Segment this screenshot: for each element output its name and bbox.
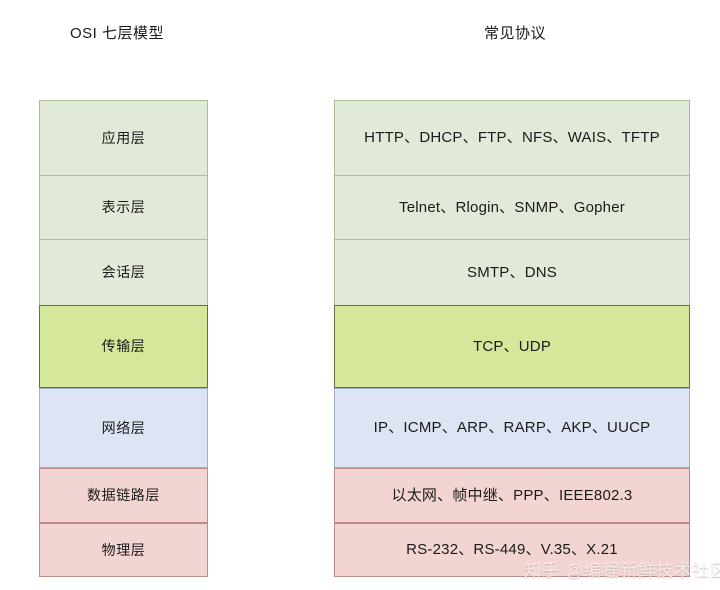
osi-layer-network: 网络层	[39, 388, 208, 468]
protocol-stack: HTTP、DHCP、FTP、NFS、WAIS、TFTP Telnet、Rlogi…	[334, 100, 690, 577]
protocol-row-network: IP、ICMP、ARP、RARP、AKP、UUCP	[334, 388, 690, 468]
osi-layer-transport: 传输层	[39, 305, 208, 388]
osi-column-header: OSI 七层模型	[70, 22, 164, 43]
protocol-row-label: 以太网、帧中继、PPP、IEEE802.3	[392, 487, 633, 505]
protocol-row-label: SMTP、DNS	[467, 264, 557, 282]
protocol-row-data-link: 以太网、帧中继、PPP、IEEE802.3	[334, 468, 690, 523]
protocol-row-label: TCP、UDP	[473, 338, 551, 356]
osi-layer-physical: 物理层	[39, 523, 208, 577]
osi-layer-label: 会话层	[102, 264, 146, 281]
protocol-row-physical: RS-232、RS-449、V.35、X.21	[334, 523, 690, 577]
protocol-row-label: RS-232、RS-449、V.35、X.21	[406, 541, 618, 559]
osi-layer-application: 应用层	[39, 100, 208, 175]
osi-layer-label: 物理层	[102, 542, 146, 559]
osi-layer-label: 应用层	[102, 130, 146, 147]
protocol-row-application: HTTP、DHCP、FTP、NFS、WAIS、TFTP	[334, 100, 690, 175]
osi-layer-label: 传输层	[102, 338, 146, 355]
osi-layer-label: 表示层	[102, 199, 146, 216]
protocol-row-presentation: Telnet、Rlogin、SNMP、Gopher	[334, 175, 690, 239]
protocol-row-session: SMTP、DNS	[334, 239, 690, 305]
osi-layer-stack: 应用层 表示层 会话层 传输层 网络层 数据链路层 物理层	[39, 100, 208, 577]
osi-layer-presentation: 表示层	[39, 175, 208, 239]
osi-layer-label: 数据链路层	[87, 487, 160, 504]
osi-model-diagram: OSI 七层模型 常见协议 应用层 表示层 会话层 传输层 网络层 数据链路层 …	[0, 0, 720, 590]
protocol-row-transport: TCP、UDP	[334, 305, 690, 388]
protocol-row-label: Telnet、Rlogin、SNMP、Gopher	[399, 199, 625, 217]
protocol-row-label: IP、ICMP、ARP、RARP、AKP、UUCP	[374, 419, 651, 437]
osi-layer-data-link: 数据链路层	[39, 468, 208, 523]
osi-layer-label: 网络层	[102, 420, 146, 437]
osi-layer-session: 会话层	[39, 239, 208, 305]
protocol-column-header: 常见协议	[484, 22, 546, 43]
protocol-row-label: HTTP、DHCP、FTP、NFS、WAIS、TFTP	[364, 129, 660, 147]
